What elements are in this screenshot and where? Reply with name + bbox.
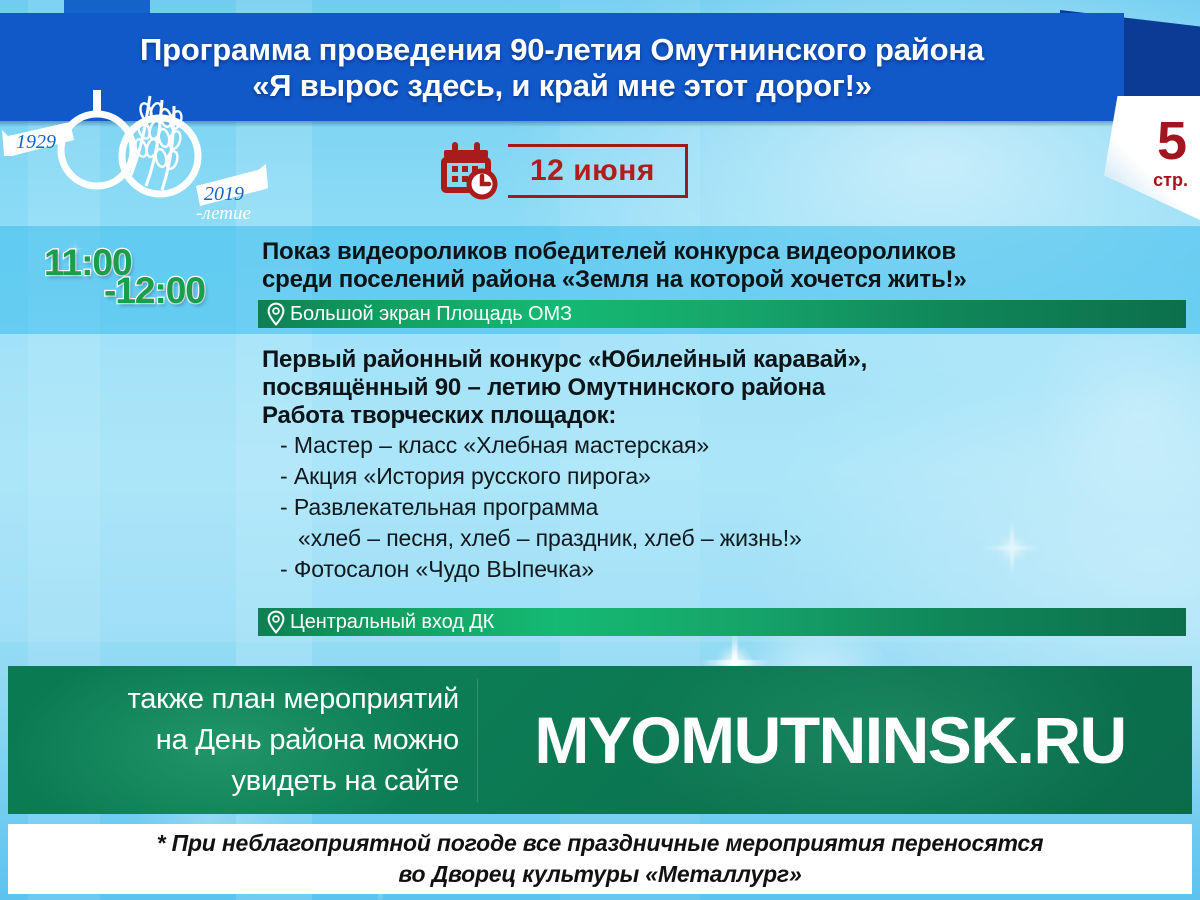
event-line: посвящённый 90 – летию Омутнинского райо… — [262, 374, 1184, 402]
website-url[interactable]: MYOMUTNINSK.RU — [478, 705, 1192, 775]
website-banner: также план мероприятий на День района мо… — [8, 666, 1192, 814]
website-caption-line2: на День района можно — [8, 720, 459, 761]
event-time-column — [0, 334, 248, 642]
footer-note: * При неблагоприятной погоде все праздни… — [8, 824, 1192, 894]
event-line: Показ видеороликов победителей конкурса … — [262, 238, 1184, 266]
page-number: 5 — [1157, 116, 1186, 166]
event-line: Первый районный конкурс «Юбилейный карав… — [262, 346, 1184, 374]
poster-root: Программа проведения 90-летия Омутнинско… — [0, 0, 1200, 900]
venue-bar: Большой экран Площадь ОМЗ — [258, 300, 1186, 328]
venue-text: Большой экран Площадь ОМЗ — [290, 303, 572, 326]
page-corner: 5 стр. — [1104, 96, 1200, 220]
event-line: - Фотосалон «Чудо ВЫпечка» — [262, 554, 1184, 585]
date-badge-text: 12 июня — [530, 154, 655, 188]
event-time-column: 11:00 -12:00 — [0, 226, 248, 334]
page-number-label: стр. — [1153, 170, 1188, 191]
time-range: 11:00 -12:00 — [36, 244, 236, 314]
event-line: - Развлекательная программа — [262, 492, 1184, 523]
header-title-line2: «Я вырос здесь, и край мне этот дорог!» — [252, 68, 872, 104]
event-line: - Мастер – класс «Хлебная мастерская» — [262, 430, 1184, 461]
venue-text: Центральный вход ДК — [290, 611, 494, 634]
anniversary-logo: 1929 2019 — [0, 78, 280, 223]
event-line: Работа творческих площадок: — [262, 402, 1184, 430]
event-line: «хлеб – песня, хлеб – праздник, хлеб – ж… — [262, 523, 1184, 554]
logo-year-to: 2019 — [204, 183, 244, 205]
logo-suffix: -летие — [196, 203, 251, 223]
ribbon-top-tab — [64, 0, 150, 13]
date-badge: 12 июня — [440, 138, 688, 204]
header-title-line1: Программа проведения 90-летия Омутнинско… — [140, 32, 984, 68]
date-badge-box: 12 июня — [508, 144, 688, 198]
event-line: - Акция «История русского пирога» — [262, 461, 1184, 492]
website-caption-line3: увидеть на сайте — [8, 761, 459, 802]
venue-bar: Центральный вход ДК — [258, 608, 1186, 636]
logo-year-from: 1929 — [16, 131, 56, 153]
location-pin-icon — [266, 302, 286, 326]
wheat-ears-icon — [128, 96, 183, 190]
location-pin-icon — [266, 610, 286, 634]
event-body: Первый районный конкурс «Юбилейный карав… — [248, 334, 1200, 642]
event-line: среди поселений района «Земля на которой… — [262, 266, 1184, 294]
event-row: Первый районный конкурс «Юбилейный карав… — [0, 334, 1200, 642]
footer-line2: во Дворец культуры «Металлург» — [398, 859, 801, 890]
website-caption-line1: также план мероприятий — [8, 679, 459, 720]
time-end: -12:00 — [104, 272, 205, 310]
footer-line1: * При неблагоприятной погоде все праздни… — [157, 828, 1044, 859]
calendar-clock-icon — [440, 140, 502, 202]
website-banner-caption: также план мероприятий на День района мо… — [8, 679, 478, 802]
